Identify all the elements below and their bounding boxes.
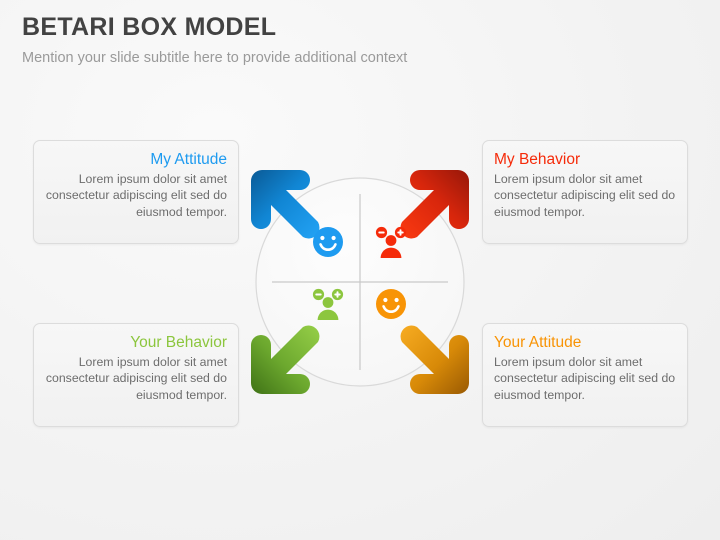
card-your-behavior[interactable]: Your Behavior Lorem ipsum dolor sit amet…	[33, 323, 239, 427]
card-my-attitude[interactable]: My Attitude Lorem ipsum dolor sit amet c…	[33, 140, 239, 244]
card-body-your-attitude: Lorem ipsum dolor sit amet consectetur a…	[494, 354, 676, 403]
card-title-your-attitude: Your Attitude	[494, 333, 676, 352]
person-plus-minus-icon	[371, 222, 411, 262]
page-title: BETARI BOX MODEL	[22, 12, 682, 42]
card-title-my-attitude: My Attitude	[45, 150, 227, 169]
smiley-face-icon	[371, 284, 411, 324]
person-plus-minus-icon	[308, 284, 348, 324]
card-title-your-behavior: Your Behavior	[45, 333, 227, 352]
card-my-behavior[interactable]: My Behavior Lorem ipsum dolor sit amet c…	[482, 140, 688, 244]
slide-header: BETARI BOX MODEL Mention your slide subt…	[22, 12, 682, 68]
card-body-my-attitude: Lorem ipsum dolor sit amet consectetur a…	[45, 171, 227, 220]
card-title-my-behavior: My Behavior	[494, 150, 676, 169]
slide-canvas: BETARI BOX MODEL Mention your slide subt…	[0, 0, 720, 540]
page-subtitle: Mention your slide subtitle here to prov…	[22, 48, 682, 68]
card-your-attitude[interactable]: Your Attitude Lorem ipsum dolor sit amet…	[482, 323, 688, 427]
card-body-my-behavior: Lorem ipsum dolor sit amet consectetur a…	[494, 171, 676, 220]
card-body-your-behavior: Lorem ipsum dolor sit amet consectetur a…	[45, 354, 227, 403]
smiley-face-icon	[308, 222, 348, 262]
betari-cycle-diagram	[240, 158, 480, 406]
cycle-svg	[240, 158, 480, 406]
